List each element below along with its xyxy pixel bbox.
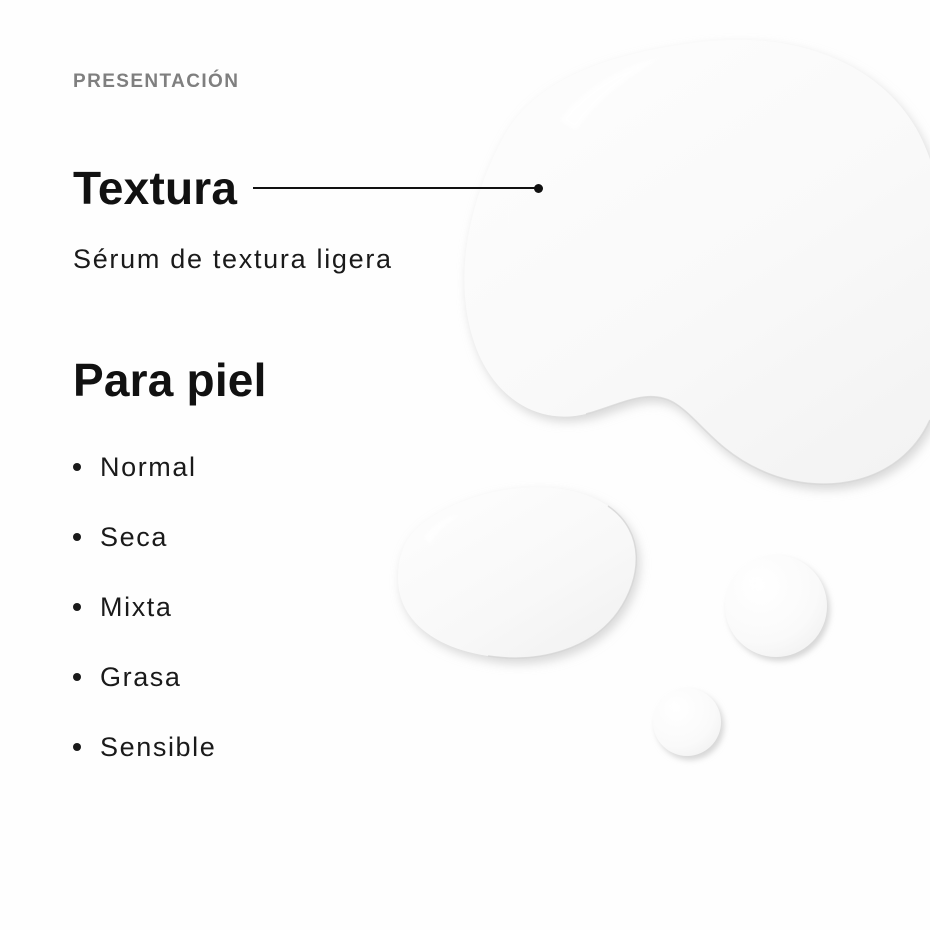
product-presentation-card: PRESENTACIÓN Textura Sérum de textura li…	[0, 0, 930, 930]
leader-endpoint-dot	[534, 184, 543, 193]
bullet-icon	[73, 463, 81, 471]
skin-type-label: Sensible	[100, 734, 216, 761]
serum-droplet-medium	[725, 555, 827, 657]
skin-type-label: Seca	[100, 524, 168, 551]
list-item: Seca	[73, 502, 216, 572]
large-serum-blob	[464, 40, 930, 484]
bullet-icon	[73, 603, 81, 611]
list-item: Sensible	[73, 712, 216, 782]
bullet-icon	[73, 743, 81, 751]
list-item: Normal	[73, 432, 216, 502]
list-item: Grasa	[73, 642, 216, 712]
leader-line-group	[253, 184, 541, 192]
skin-type-label: Normal	[100, 454, 197, 481]
medium-serum-blob	[398, 487, 636, 658]
bullet-icon	[73, 533, 81, 541]
leader-line	[253, 187, 541, 189]
list-item: Mixta	[73, 572, 216, 642]
bullet-icon	[73, 673, 81, 681]
texture-title: Textura	[73, 165, 237, 211]
skin-types-list: Normal Seca Mixta Grasa Sensible	[73, 432, 216, 782]
texture-title-row: Textura	[73, 162, 541, 214]
eyebrow-label: PRESENTACIÓN	[73, 72, 239, 91]
serum-droplet-small	[653, 688, 721, 756]
skin-types-title: Para piel	[73, 357, 267, 403]
texture-subtitle: Sérum de textura ligera	[73, 243, 393, 275]
skin-type-label: Grasa	[100, 664, 182, 691]
skin-type-label: Mixta	[100, 594, 173, 621]
